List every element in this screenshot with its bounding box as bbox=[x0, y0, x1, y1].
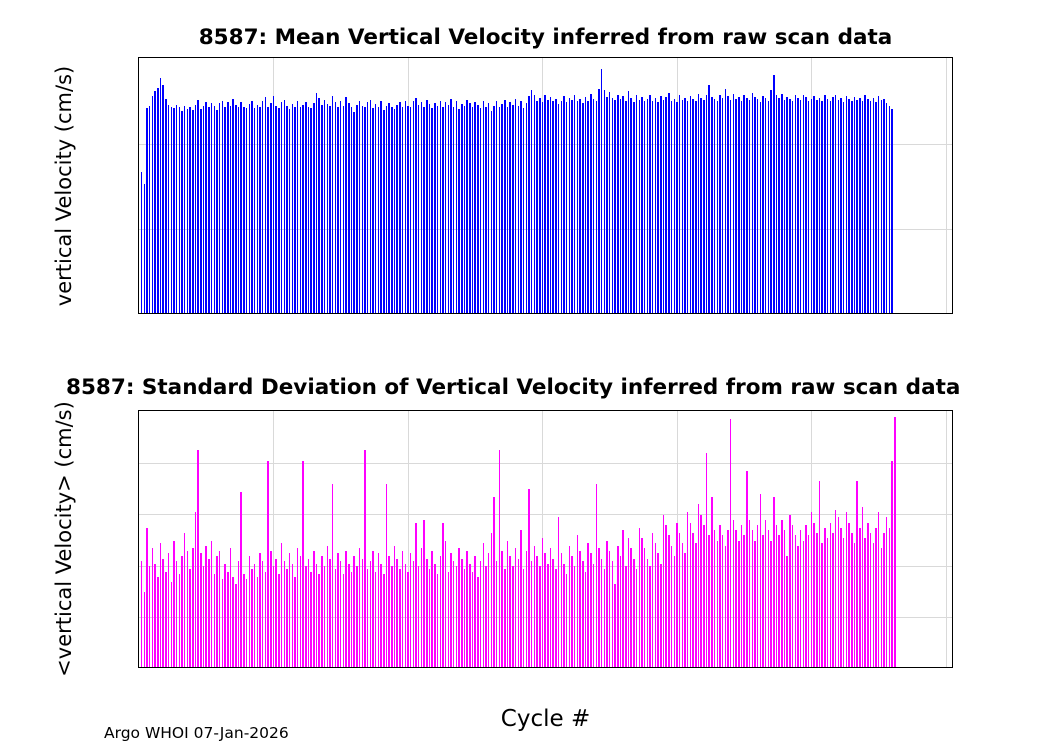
bar bbox=[614, 584, 615, 667]
bar bbox=[388, 103, 389, 313]
bar bbox=[302, 105, 303, 313]
bar bbox=[768, 530, 769, 667]
bar bbox=[141, 172, 142, 313]
bar bbox=[706, 95, 707, 313]
bar bbox=[181, 111, 182, 313]
bar bbox=[461, 104, 462, 313]
bar bbox=[340, 101, 341, 313]
bar bbox=[682, 100, 683, 313]
bar bbox=[152, 548, 153, 667]
bar bbox=[456, 101, 457, 313]
bar bbox=[302, 461, 303, 667]
bar bbox=[700, 515, 701, 667]
bar bbox=[695, 101, 696, 313]
bar bbox=[727, 530, 728, 667]
bar bbox=[711, 97, 712, 313]
bar bbox=[230, 106, 231, 313]
mean-velocity-bars bbox=[139, 58, 952, 313]
mean-velocity-panel: 8587: Mean Vertical Velocity inferred fr… bbox=[138, 57, 953, 314]
bar bbox=[636, 569, 637, 667]
y-tick-mark bbox=[138, 57, 139, 59]
bar bbox=[321, 105, 322, 313]
bar bbox=[843, 538, 844, 667]
bar bbox=[558, 104, 559, 313]
bar bbox=[254, 564, 255, 667]
bar bbox=[816, 533, 817, 667]
bar bbox=[171, 582, 172, 667]
bar bbox=[786, 556, 787, 667]
bar bbox=[743, 535, 744, 667]
bar bbox=[431, 108, 432, 313]
bar bbox=[655, 98, 656, 313]
bar bbox=[421, 548, 422, 667]
bar bbox=[703, 525, 704, 667]
x-tick-mark bbox=[407, 410, 409, 411]
bar bbox=[171, 107, 172, 313]
bar bbox=[843, 102, 844, 313]
bar bbox=[652, 101, 653, 313]
bar bbox=[429, 569, 430, 667]
bar bbox=[593, 564, 594, 667]
bar bbox=[292, 564, 293, 667]
bar bbox=[620, 99, 621, 313]
mean-velocity-axes: 0501001502002503000102030 bbox=[138, 57, 953, 314]
bar bbox=[445, 102, 446, 313]
figure-canvas: 8587: Mean Vertical Velocity inferred fr… bbox=[0, 0, 1050, 750]
bar bbox=[609, 92, 610, 313]
bar bbox=[749, 520, 750, 667]
bar bbox=[415, 98, 416, 313]
bar bbox=[313, 103, 314, 313]
bar bbox=[351, 572, 352, 667]
bar bbox=[203, 566, 204, 667]
bar bbox=[698, 94, 699, 313]
bar bbox=[800, 100, 801, 313]
bar bbox=[278, 574, 279, 667]
bar bbox=[789, 515, 790, 667]
bar bbox=[703, 100, 704, 313]
bar bbox=[324, 566, 325, 667]
bar bbox=[224, 107, 225, 313]
bar bbox=[380, 101, 381, 313]
bar bbox=[587, 543, 588, 667]
bar bbox=[246, 579, 247, 667]
bar bbox=[445, 541, 446, 667]
mean-velocity-ylabel: vertical Velocity (cm/s) bbox=[52, 65, 76, 305]
bar bbox=[187, 551, 188, 667]
bar bbox=[195, 105, 196, 313]
bar bbox=[596, 101, 597, 313]
bar bbox=[469, 103, 470, 313]
bar bbox=[407, 106, 408, 313]
bar bbox=[362, 559, 363, 667]
bar bbox=[630, 98, 631, 313]
bar bbox=[200, 109, 201, 313]
bar bbox=[458, 548, 459, 667]
bar bbox=[499, 107, 500, 313]
bar bbox=[512, 566, 513, 667]
bar bbox=[305, 566, 306, 667]
bar bbox=[873, 543, 874, 667]
bar bbox=[859, 98, 860, 313]
x-tick-mark bbox=[273, 313, 275, 314]
bar bbox=[773, 497, 774, 667]
bar bbox=[762, 535, 763, 667]
bar bbox=[682, 543, 683, 667]
bar bbox=[725, 89, 726, 313]
bar bbox=[601, 559, 602, 667]
bar bbox=[531, 90, 532, 313]
bar bbox=[157, 88, 158, 313]
bar bbox=[526, 103, 527, 313]
bar bbox=[227, 572, 228, 667]
bar bbox=[765, 98, 766, 313]
bar bbox=[267, 461, 268, 667]
bar bbox=[518, 559, 519, 667]
bar bbox=[192, 110, 193, 313]
bar bbox=[827, 538, 828, 667]
y-tick-mark bbox=[952, 513, 953, 515]
bar bbox=[405, 101, 406, 313]
bar bbox=[275, 559, 276, 667]
bar bbox=[240, 492, 241, 667]
bar bbox=[717, 101, 718, 313]
bar bbox=[550, 548, 551, 667]
bar bbox=[222, 579, 223, 667]
bar bbox=[278, 108, 279, 313]
bar bbox=[835, 95, 836, 313]
bar bbox=[544, 95, 545, 313]
bar bbox=[483, 101, 484, 313]
bar bbox=[507, 541, 508, 667]
bar bbox=[547, 100, 548, 313]
bar bbox=[684, 553, 685, 667]
bar bbox=[657, 102, 658, 313]
bar bbox=[674, 556, 675, 667]
bar bbox=[690, 523, 691, 667]
bar bbox=[192, 548, 193, 667]
bar bbox=[310, 572, 311, 667]
bar bbox=[819, 481, 820, 667]
y-tick-mark bbox=[138, 513, 139, 515]
bar bbox=[259, 553, 260, 667]
bar bbox=[569, 546, 570, 667]
bar bbox=[294, 107, 295, 313]
bar bbox=[776, 525, 777, 667]
bar bbox=[157, 577, 158, 667]
bar bbox=[232, 577, 233, 667]
bar bbox=[800, 530, 801, 667]
bar bbox=[569, 98, 570, 313]
bar bbox=[542, 102, 543, 313]
bar bbox=[571, 556, 572, 667]
bar bbox=[378, 107, 379, 313]
bar bbox=[437, 106, 438, 313]
bar bbox=[813, 523, 814, 667]
bar bbox=[453, 107, 454, 313]
bar bbox=[515, 548, 516, 667]
bar bbox=[641, 538, 642, 667]
bar bbox=[692, 99, 693, 313]
bar bbox=[714, 99, 715, 313]
bar bbox=[628, 538, 629, 667]
bar bbox=[461, 559, 462, 667]
bar bbox=[612, 98, 613, 313]
bar bbox=[620, 556, 621, 667]
bar bbox=[329, 106, 330, 313]
bar bbox=[388, 556, 389, 667]
bar bbox=[633, 559, 634, 667]
bar bbox=[609, 551, 610, 667]
bar bbox=[590, 94, 591, 313]
bar bbox=[590, 553, 591, 667]
bar bbox=[474, 556, 475, 667]
bar bbox=[243, 574, 244, 667]
bar bbox=[676, 102, 677, 313]
bar bbox=[639, 100, 640, 313]
bar bbox=[219, 551, 220, 667]
bar bbox=[832, 97, 833, 313]
bar bbox=[423, 107, 424, 313]
bar bbox=[875, 102, 876, 313]
bar bbox=[329, 559, 330, 667]
bar bbox=[335, 569, 336, 667]
bar bbox=[711, 497, 712, 667]
bar bbox=[216, 110, 217, 313]
bar bbox=[507, 107, 508, 313]
bar bbox=[738, 541, 739, 667]
bar bbox=[647, 559, 648, 667]
bar bbox=[149, 566, 150, 667]
bar bbox=[512, 105, 513, 313]
bar bbox=[496, 101, 497, 313]
bar bbox=[579, 551, 580, 667]
bar bbox=[316, 564, 317, 667]
y-tick-mark bbox=[138, 410, 139, 412]
bar bbox=[262, 561, 263, 667]
bar bbox=[466, 100, 467, 313]
bar bbox=[741, 525, 742, 667]
bar bbox=[429, 104, 430, 313]
bar bbox=[270, 103, 271, 313]
bar bbox=[284, 561, 285, 667]
bar bbox=[259, 107, 260, 313]
bar bbox=[778, 98, 779, 313]
y-tick-mark bbox=[952, 617, 953, 619]
bar bbox=[760, 102, 761, 313]
bar bbox=[534, 95, 535, 313]
bar bbox=[205, 546, 206, 667]
y-tick-mark bbox=[138, 617, 139, 619]
bar bbox=[644, 548, 645, 667]
bar bbox=[423, 520, 424, 667]
bar bbox=[187, 109, 188, 313]
bar bbox=[146, 528, 147, 667]
x-tick-mark bbox=[542, 57, 544, 58]
bar bbox=[480, 561, 481, 667]
bar bbox=[144, 592, 145, 667]
bar bbox=[370, 561, 371, 667]
bar bbox=[851, 533, 852, 667]
bar bbox=[181, 556, 182, 667]
bar bbox=[679, 95, 680, 313]
bar bbox=[639, 528, 640, 667]
bar bbox=[552, 559, 553, 667]
x-tick-mark bbox=[407, 667, 409, 668]
bar bbox=[337, 107, 338, 313]
bar bbox=[200, 553, 201, 667]
bar bbox=[528, 96, 529, 313]
bar bbox=[367, 569, 368, 667]
bar bbox=[835, 510, 836, 667]
bar bbox=[803, 541, 804, 667]
x-tick-mark bbox=[811, 313, 813, 314]
bar bbox=[375, 104, 376, 313]
bar bbox=[542, 538, 543, 667]
mean-velocity-plot-area bbox=[139, 58, 952, 313]
bar bbox=[227, 102, 228, 313]
bar bbox=[477, 105, 478, 313]
bar bbox=[821, 101, 822, 313]
bar bbox=[152, 96, 153, 313]
bar bbox=[665, 97, 666, 313]
bar bbox=[700, 98, 701, 313]
bar bbox=[413, 101, 414, 313]
bar bbox=[889, 528, 890, 667]
bar bbox=[762, 96, 763, 313]
bar bbox=[722, 98, 723, 313]
bar bbox=[601, 69, 602, 313]
bar bbox=[415, 523, 416, 667]
bar bbox=[208, 559, 209, 667]
bar bbox=[663, 100, 664, 313]
bar bbox=[402, 107, 403, 313]
bar bbox=[305, 102, 306, 313]
bar bbox=[426, 559, 427, 667]
bar bbox=[434, 103, 435, 313]
bar bbox=[450, 99, 451, 313]
bar bbox=[528, 489, 529, 667]
bar bbox=[719, 95, 720, 313]
x-tick-mark bbox=[676, 667, 678, 668]
bar bbox=[773, 75, 774, 313]
bar bbox=[749, 100, 750, 313]
bar bbox=[684, 98, 685, 313]
bar bbox=[587, 101, 588, 313]
bar bbox=[154, 91, 155, 313]
bar bbox=[714, 530, 715, 667]
bar bbox=[598, 89, 599, 313]
x-tick-mark bbox=[273, 667, 275, 668]
bar bbox=[671, 546, 672, 667]
bar bbox=[501, 551, 502, 667]
bar bbox=[883, 99, 884, 313]
bar bbox=[480, 108, 481, 313]
bar bbox=[864, 95, 865, 313]
bar bbox=[604, 569, 605, 667]
bar bbox=[405, 564, 406, 667]
bar bbox=[162, 559, 163, 667]
bar bbox=[281, 543, 282, 667]
bar bbox=[722, 535, 723, 667]
bar bbox=[235, 584, 236, 667]
bar bbox=[886, 517, 887, 667]
bar bbox=[214, 106, 215, 313]
bar bbox=[364, 450, 365, 667]
bar bbox=[224, 564, 225, 667]
bar bbox=[394, 546, 395, 667]
bar bbox=[859, 528, 860, 667]
bar bbox=[848, 523, 849, 667]
bar bbox=[746, 471, 747, 667]
bar bbox=[733, 520, 734, 667]
bar bbox=[289, 553, 290, 667]
bar bbox=[606, 541, 607, 667]
bar bbox=[550, 97, 551, 313]
std-velocity-axes: 0501001502002503000246810 bbox=[138, 410, 953, 668]
bar bbox=[520, 530, 521, 667]
bar bbox=[854, 97, 855, 313]
bar bbox=[526, 551, 527, 667]
x-tick-mark bbox=[542, 667, 544, 668]
bar bbox=[539, 566, 540, 667]
bar bbox=[327, 104, 328, 313]
bar bbox=[316, 93, 317, 313]
bar bbox=[275, 106, 276, 313]
bar bbox=[235, 105, 236, 313]
bar bbox=[792, 525, 793, 667]
bar bbox=[440, 556, 441, 667]
bar bbox=[856, 481, 857, 667]
bar bbox=[746, 98, 747, 313]
bar bbox=[891, 109, 892, 313]
bar bbox=[574, 95, 575, 313]
bar bbox=[493, 497, 494, 667]
bar bbox=[520, 101, 521, 313]
bar bbox=[797, 546, 798, 667]
bar bbox=[179, 574, 180, 667]
bar bbox=[786, 97, 787, 313]
bar bbox=[154, 564, 155, 667]
bar bbox=[410, 553, 411, 667]
bar bbox=[353, 112, 354, 313]
bar bbox=[738, 97, 739, 313]
std-velocity-ylabel: <vertical Velocity> (cm/s) bbox=[52, 401, 76, 677]
bar bbox=[870, 101, 871, 313]
bar bbox=[179, 107, 180, 313]
bar bbox=[380, 564, 381, 667]
bar bbox=[547, 564, 548, 667]
bar bbox=[251, 101, 252, 313]
bar bbox=[851, 101, 852, 313]
bar bbox=[208, 107, 209, 313]
bar bbox=[211, 541, 212, 667]
bar bbox=[816, 100, 817, 313]
y-tick-mark bbox=[138, 143, 139, 145]
bar bbox=[219, 103, 220, 313]
bar bbox=[692, 533, 693, 667]
bar bbox=[582, 103, 583, 313]
bar bbox=[300, 556, 301, 667]
footer-credit: Argo WHOI 07-Jan-2026 bbox=[104, 724, 289, 742]
bar bbox=[286, 106, 287, 313]
bar bbox=[752, 530, 753, 667]
bar bbox=[757, 99, 758, 313]
bar bbox=[308, 559, 309, 667]
bar bbox=[321, 556, 322, 667]
bar bbox=[327, 546, 328, 667]
bar bbox=[795, 535, 796, 667]
